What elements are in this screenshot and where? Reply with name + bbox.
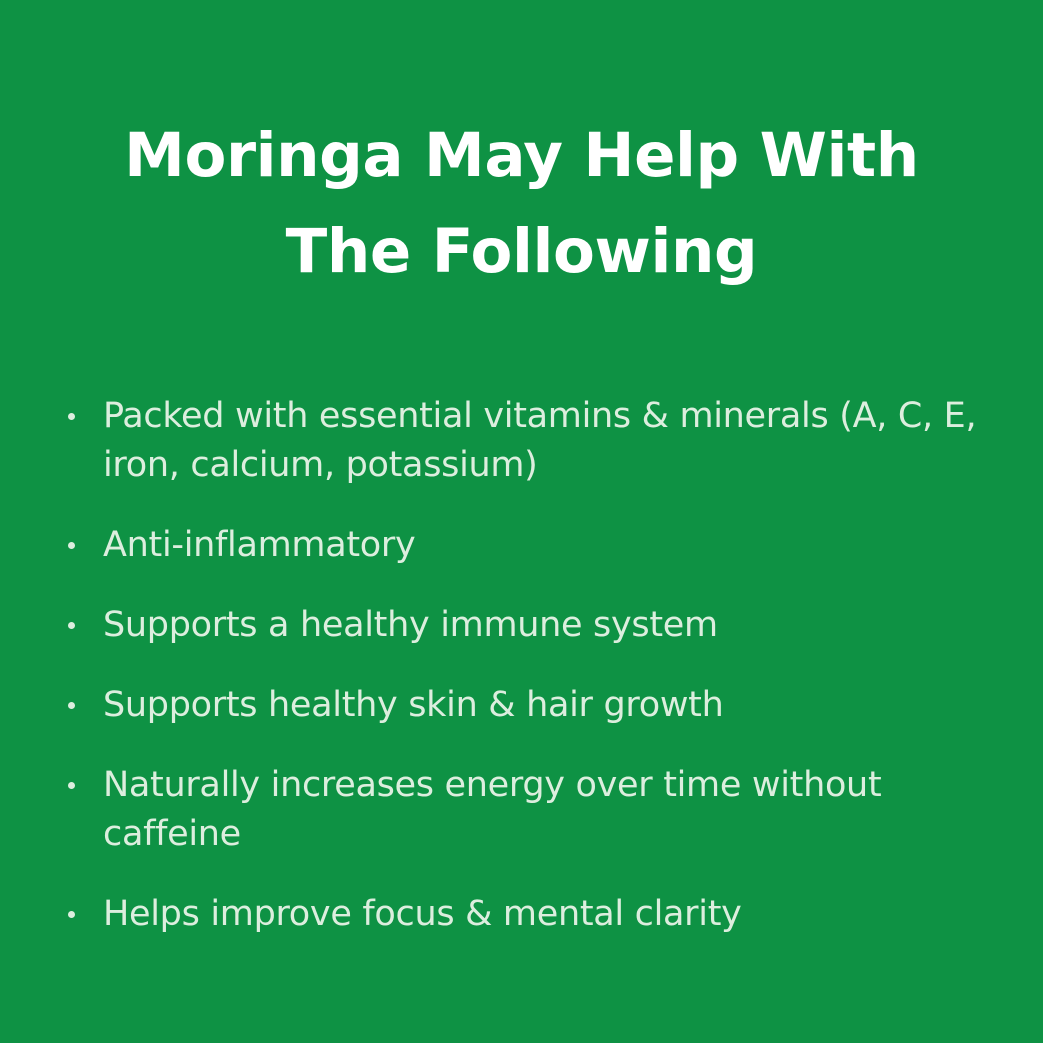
page-title: Moringa May Help With The Following xyxy=(80,108,963,300)
list-item-label: Supports healthy skin & hair growth xyxy=(103,681,992,730)
bullet-dot-icon xyxy=(68,622,75,629)
bullet-dot-icon xyxy=(68,413,75,420)
list-item: Packed with essential vitamins & mineral… xyxy=(62,392,992,490)
list-item: Supports a healthy immune system xyxy=(62,601,992,650)
list-item: Anti-inflammatory xyxy=(62,521,992,570)
title-block: Moringa May Help With The Following xyxy=(80,108,963,300)
list-item-label: Helps improve focus & mental clarity xyxy=(103,890,992,939)
benefits-list: Packed with essential vitamins & mineral… xyxy=(62,392,992,939)
moringa-benefits-slide: Moringa May Help With The Following Pack… xyxy=(0,0,1043,1043)
list-item-label: Supports a healthy immune system xyxy=(103,601,992,650)
bullet-dot-icon xyxy=(68,702,75,709)
list-item-label: Packed with essential vitamins & mineral… xyxy=(103,392,992,490)
list-item: Supports healthy skin & hair growth xyxy=(62,681,992,730)
list-item-label: Naturally increases energy over time wit… xyxy=(103,761,992,859)
list-item: Naturally increases energy over time wit… xyxy=(62,761,992,859)
list-item: Helps improve focus & mental clarity xyxy=(62,890,992,939)
list-item-label: Anti-inflammatory xyxy=(103,521,992,570)
bullet-dot-icon xyxy=(68,782,75,789)
bullet-dot-icon xyxy=(68,542,75,549)
bullet-dot-icon xyxy=(68,911,75,918)
